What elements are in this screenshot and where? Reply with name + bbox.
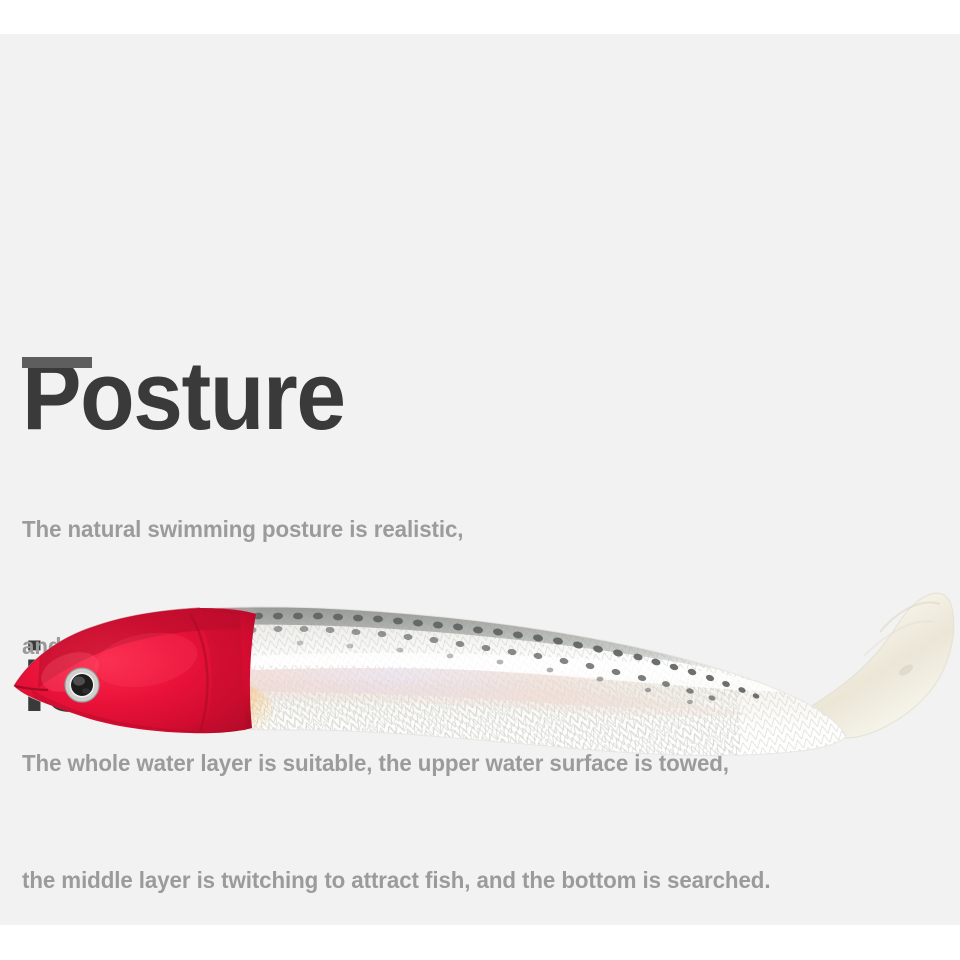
eye-highlight [73,676,85,685]
title-divider [22,357,92,368]
product-feature-page: Posture is realistic The natural swimmin… [0,0,960,960]
lure-eye [65,668,99,702]
fish-lure-illustration [0,560,960,820]
description-line-4: the middle layer is twitching to attract… [22,861,915,900]
lure-head [14,604,260,746]
lure-product-image [0,560,960,820]
headline-line-1: Posture [22,349,666,443]
lure-tail [812,593,954,738]
description-line-1: The natural swimming posture is realisti… [22,510,915,549]
